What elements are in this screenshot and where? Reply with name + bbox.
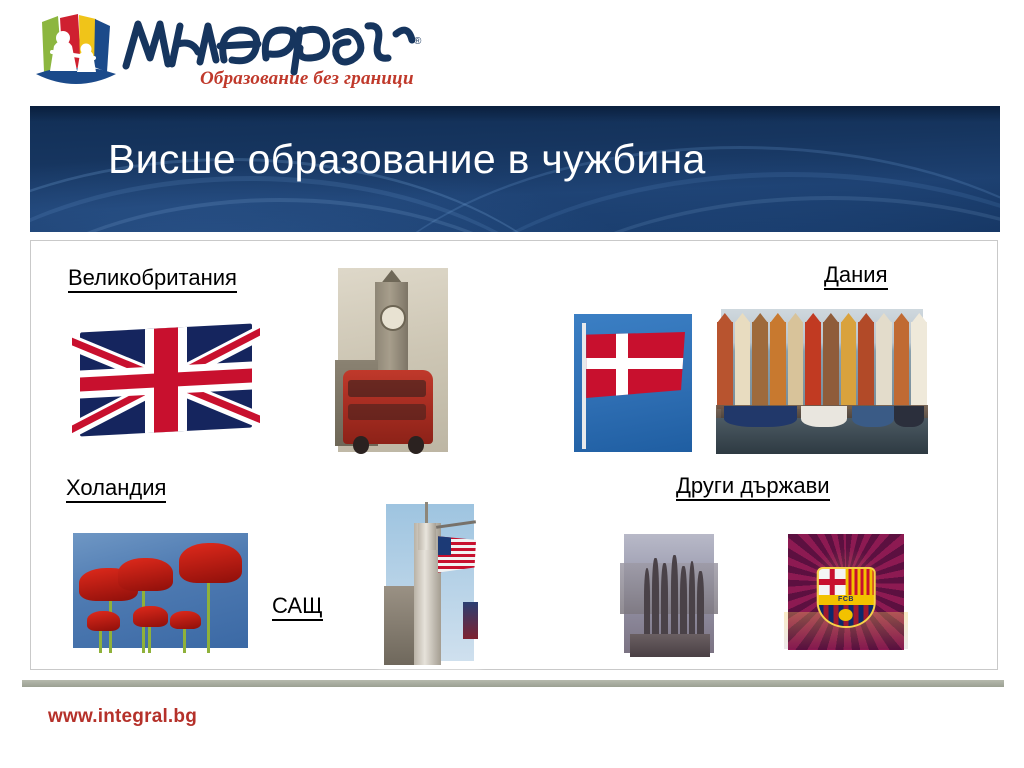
red-tulips-photo: [68, 528, 253, 653]
book-family-emblem-icon: [32, 12, 120, 96]
banner-swirl: [30, 198, 620, 232]
banner-swirl: [450, 196, 1000, 232]
section-label-other: Други държави: [676, 474, 830, 501]
section-label-uk: Великобритания: [68, 266, 237, 293]
banner-swirl: [30, 176, 610, 232]
footer-divider: [22, 680, 1004, 687]
fcb-monogram: FCB: [838, 596, 854, 603]
section-label-usa: САЩ: [272, 594, 323, 621]
empire-state-building-photo: [382, 500, 478, 665]
union-jack-flag-photo: [72, 318, 260, 442]
logo-wordmark-icon: [120, 14, 425, 76]
fc-barcelona-crest-photo: FCB: [784, 530, 908, 654]
banner-top-shade: [30, 106, 1000, 122]
fcb-crest-icon: FCB: [817, 567, 876, 628]
brand-tagline: Образование без граници: [200, 68, 414, 90]
registered-trademark-icon: ®: [414, 36, 421, 47]
section-label-denmark: Дания: [824, 263, 888, 290]
big-ben-red-bus-photo: [330, 262, 456, 458]
section-label-holland: Холандия: [66, 476, 166, 503]
footer-website-url: www.integral.bg: [48, 706, 197, 728]
nyhavn-copenhagen-harbour-photo: [716, 304, 928, 454]
page-title: Висше образование в чужбина: [108, 136, 706, 183]
danish-flag-photo: [568, 308, 698, 458]
brand-logo: ® Образование без граници: [28, 10, 428, 106]
sagrada-familia-photo: [620, 530, 718, 657]
slide-title-banner: Висше образование в чужбина: [30, 106, 1000, 232]
